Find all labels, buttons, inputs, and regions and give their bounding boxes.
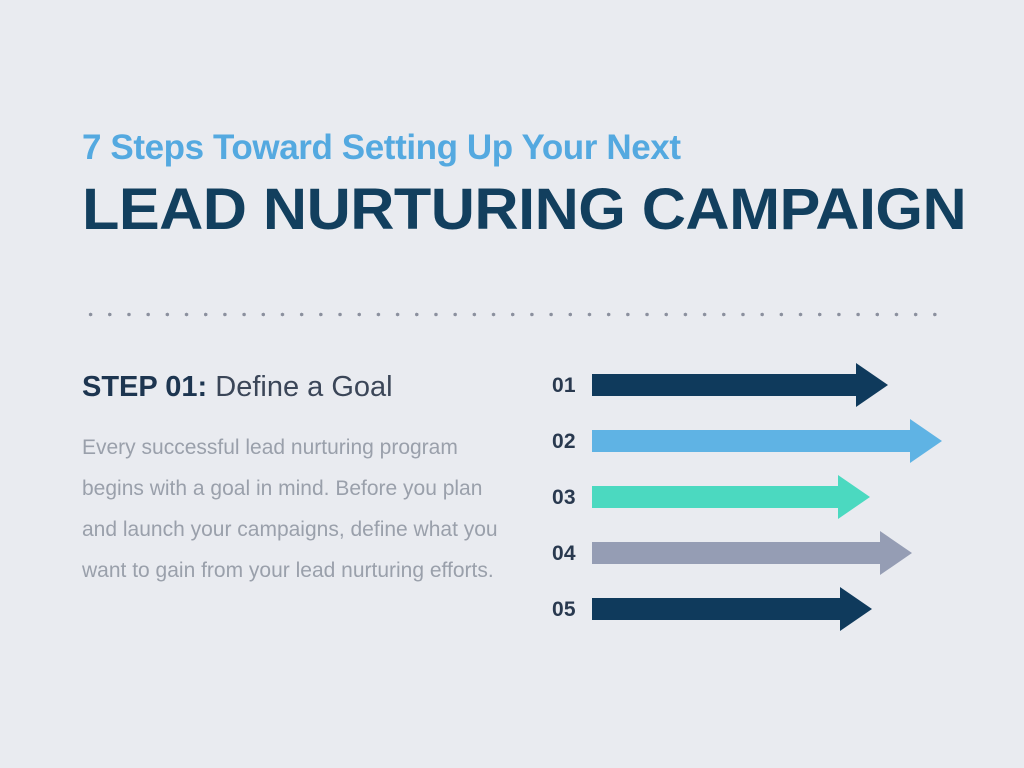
arrow-shape-05 (592, 586, 876, 632)
step-body-text: Every successful lead nurturing program … (82, 427, 512, 591)
step-heading: STEP 01: Define a Goal (82, 370, 532, 405)
arrow-row-02: 02 (552, 418, 946, 464)
step-content: STEP 01: Define a Goal Every successful … (82, 370, 532, 591)
arrow-row-03: 03 (552, 474, 874, 520)
arrow-chart: 01 02 03 04 05 (552, 362, 952, 630)
arrow-label-03: 03 (552, 487, 592, 508)
arrow-label-01: 01 (552, 375, 592, 396)
arrow-shape-04 (592, 530, 916, 576)
arrow-row-04: 04 (552, 530, 916, 576)
arrow-shape-02 (592, 418, 946, 464)
header-subtitle: 7 Steps Toward Setting Up Your Next (82, 128, 962, 167)
step-title: Define a Goal (215, 371, 392, 403)
dotted-divider (81, 311, 941, 318)
arrow-shape-03 (592, 474, 874, 520)
infographic-slide: 7 Steps Toward Setting Up Your Next LEAD… (0, 0, 1024, 768)
step-label: STEP 01: (82, 371, 207, 403)
arrow-label-05: 05 (552, 599, 592, 620)
page-title: LEAD NURTURING CAMPAIGN (82, 177, 1010, 243)
arrow-row-01: 01 (552, 362, 892, 408)
arrow-label-04: 04 (552, 543, 592, 564)
header: 7 Steps Toward Setting Up Your Next LEAD… (82, 128, 962, 243)
arrow-label-02: 02 (552, 431, 592, 452)
arrow-shape-01 (592, 362, 892, 408)
arrow-row-05: 05 (552, 586, 876, 632)
